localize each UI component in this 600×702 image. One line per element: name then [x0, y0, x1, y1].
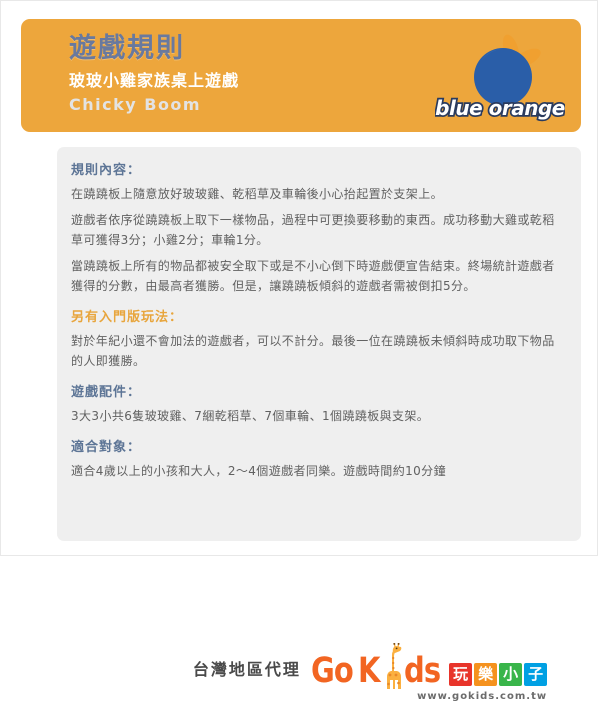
- giraffe-icon: [383, 643, 403, 689]
- gokids-box-le: 樂: [474, 663, 497, 686]
- section-paragraph: 適合4歲以上的小孩和大人，2～4個遊戲者同樂。遊戲時間約10分鐘: [71, 461, 563, 481]
- page-subtitle-en: Chicky Boom: [69, 94, 449, 116]
- page-subtitle-zh: 玻玻小雞家族桌上遊戲: [69, 69, 449, 93]
- blue-orange-logo: blue orange: [435, 27, 565, 127]
- page-title: 遊戲規則: [69, 31, 449, 67]
- gokids-go-text: Go: [311, 653, 353, 689]
- section-components: 遊戲配件： 3大3小共6隻玻玻雞、7綑乾稻草、7個車輪、1個蹺蹺板與支架。: [71, 383, 563, 426]
- agent-label: 台灣地區代理: [193, 657, 301, 689]
- section-paragraph: 在蹺蹺板上隨意放好玻玻雞、乾稻草及車輪後小心抬起置於支架上。: [71, 184, 563, 204]
- gokids-wordmark: Go K: [311, 643, 547, 689]
- section-heading: 遊戲配件：: [71, 383, 563, 403]
- section-heading: 另有入門版玩法：: [71, 308, 563, 328]
- gokids-box-xiao: 小: [499, 663, 522, 686]
- blue-orange-wordmark: blue orange: [435, 96, 565, 120]
- section-audience: 適合對象： 適合4歲以上的小孩和大人，2～4個遊戲者同樂。遊戲時間約10分鐘: [71, 438, 563, 481]
- gokids-k-text: K: [358, 653, 380, 689]
- gokids-url: www.gokids.com.tw: [417, 691, 547, 702]
- section-paragraph: 遊戲者依序從蹺蹺板上取下一樣物品，過程中可更換要移動的東西。成功移動大雞或乾稻草…: [71, 210, 563, 250]
- page-header: 遊戲規則 玻玻小雞家族桌上遊戲 Chicky Boom blue orange: [21, 19, 581, 132]
- gokids-logo: Go K: [311, 643, 547, 689]
- gokids-ds-text: ds: [404, 653, 440, 689]
- rules-page: 遊戲規則 玻玻小雞家族桌上遊戲 Chicky Boom blue orange: [0, 0, 598, 556]
- svg-text:blue orange: blue orange: [435, 96, 565, 120]
- section-heading: 規則內容：: [71, 161, 563, 181]
- rules-content: 規則內容： 在蹺蹺板上隨意放好玻玻雞、乾稻草及車輪後小心抬起置於支架上。 遊戲者…: [71, 161, 563, 489]
- section-heading: 適合對象：: [71, 438, 563, 458]
- section-paragraph: 當蹺蹺板上所有的物品都被安全取下或是不小心倒下時遊戲便宣告結束。終場統計遊戲者獲…: [71, 256, 563, 296]
- section-rules: 規則內容： 在蹺蹺板上隨意放好玻玻雞、乾稻草及車輪後小心抬起置於支架上。 遊戲者…: [71, 161, 563, 296]
- section-paragraph: 對於年紀小還不會加法的遊戲者，可以不計分。最後一位在蹺蹺板未傾斜時成功取下物品的…: [71, 331, 563, 371]
- gokids-box-wan: 玩: [449, 663, 472, 686]
- section-paragraph: 3大3小共6隻玻玻雞、7綑乾稻草、7個車輪、1個蹺蹺板與支架。: [71, 406, 563, 426]
- page-footer: 台灣地區代理 Go K: [71, 631, 600, 701]
- footer-logo-group: 台灣地區代理 Go K: [193, 643, 547, 689]
- header-title-group: 遊戲規則 玻玻小雞家族桌上遊戲 Chicky Boom: [69, 31, 449, 116]
- section-beginner-variant: 另有入門版玩法： 對於年紀小還不會加法的遊戲者，可以不計分。最後一位在蹺蹺板未傾…: [71, 308, 563, 371]
- gokids-cjk-boxes: 玩 樂 小 子: [449, 663, 547, 689]
- rules-panel: 規則內容： 在蹺蹺板上隨意放好玻玻雞、乾稻草及車輪後小心抬起置於支架上。 遊戲者…: [57, 147, 581, 541]
- gokids-box-zi: 子: [524, 663, 547, 686]
